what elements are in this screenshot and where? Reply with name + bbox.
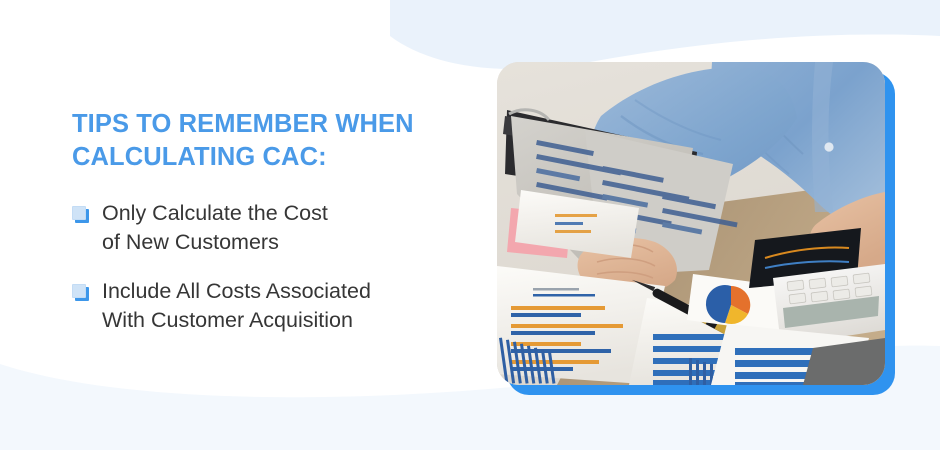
list-item-line-1: Include All Costs Associated: [102, 277, 371, 306]
page-title-line-1: TIPS TO REMEMBER WHEN: [72, 108, 472, 141]
tips-list: Only Calculate the Cost of New Customers…: [72, 199, 472, 334]
infographic-canvas: TIPS TO REMEMBER WHEN CALCULATING CAC: O…: [0, 0, 940, 450]
text-column: TIPS TO REMEMBER WHEN CALCULATING CAC: O…: [72, 108, 472, 335]
list-item-text: Include All Costs Associated With Custom…: [102, 277, 371, 334]
list-item-text: Only Calculate the Cost of New Customers: [102, 199, 328, 256]
list-item-line-1: Only Calculate the Cost: [102, 199, 328, 228]
list-item-line-2: of New Customers: [102, 228, 328, 257]
page-title: TIPS TO REMEMBER WHEN CALCULATING CAC:: [72, 108, 472, 173]
top-curve-shape: [390, 0, 940, 69]
photo-panel: [497, 62, 895, 395]
page-title-line-2: CALCULATING CAC:: [72, 141, 472, 174]
business-analytics-photo: [497, 62, 885, 385]
square-bullet-icon: [72, 206, 88, 222]
list-item: Only Calculate the Cost of New Customers: [72, 199, 472, 256]
list-item: Include All Costs Associated With Custom…: [72, 277, 472, 334]
list-item-line-2: With Customer Acquisition: [102, 306, 371, 335]
square-bullet-icon: [72, 284, 88, 300]
